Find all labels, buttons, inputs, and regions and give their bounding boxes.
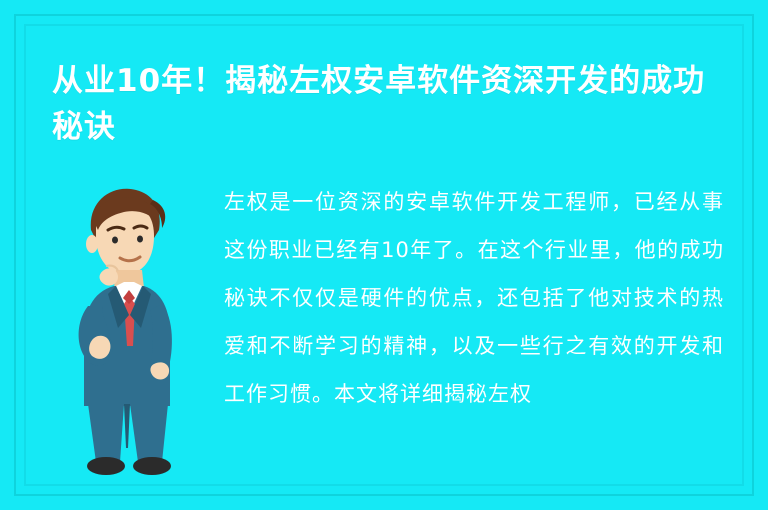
body-paragraph: 左权是一位资深的安卓软件开发工程师，已经从事这份职业已经有10年了。在这个行业里… [224, 178, 724, 418]
man-thinking-illustration [58, 178, 208, 478]
page-title: 从业10年！揭秘左权安卓软件资深开发的成功秘诀 [52, 58, 718, 150]
poster-canvas: 从业10年！揭秘左权安卓软件资深开发的成功秘诀 [0, 0, 768, 510]
